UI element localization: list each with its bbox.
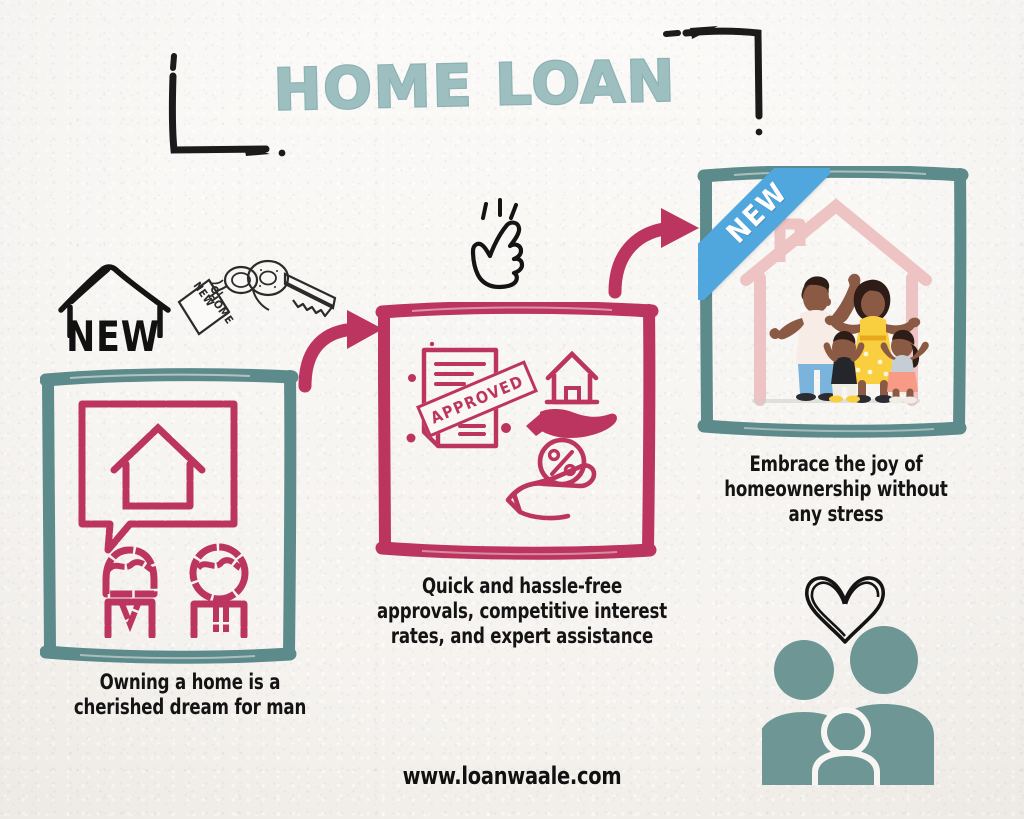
step-2-panel: APPROVED Quick and hassle-free approvals…: [372, 302, 672, 672]
step-1-caption-line-1: Owning a home is a: [42, 670, 338, 695]
footer-url[interactable]: www.loanwaale.com: [51, 762, 973, 790]
step-2-caption-line-1: Quick and hassle-free: [371, 574, 674, 599]
step-3-caption-line-2: homeownership without: [709, 477, 962, 502]
curved-arrow-step2-to-step3: [603, 200, 708, 305]
step-1-caption: Owning a home is a cherished dream for m…: [42, 670, 338, 720]
page-title: Home loan: [239, 53, 710, 121]
tap-hand-icon: [466, 196, 536, 291]
family-silhouette-icon: [762, 620, 942, 785]
step-1-caption-line-2: cherished dream for man: [42, 695, 338, 720]
step-2-caption-line-3: rates, and expert assistance: [371, 624, 674, 649]
step-3-caption-line-1: Embrace the joy of: [709, 452, 962, 477]
step-2-caption: Quick and hassle-free approvals, competi…: [371, 574, 674, 650]
new-badge-label: NEW: [66, 312, 160, 361]
title-block: Home loan: [160, 20, 780, 170]
step-1-artwork: [64, 398, 279, 638]
page-title-text: Home loan: [273, 48, 677, 123]
step-3-panel: NEW Embrace the joy of homeownership wit…: [694, 166, 994, 546]
step-2-caption-line-2: approvals, competitive interest: [371, 599, 674, 624]
new-ribbon-label: NEW: [705, 168, 809, 264]
new-ribbon: NEW: [698, 168, 830, 300]
step-3-caption-line-3: any stress: [709, 502, 962, 527]
step-3-caption: Embrace the joy of homeownership without…: [709, 452, 962, 528]
